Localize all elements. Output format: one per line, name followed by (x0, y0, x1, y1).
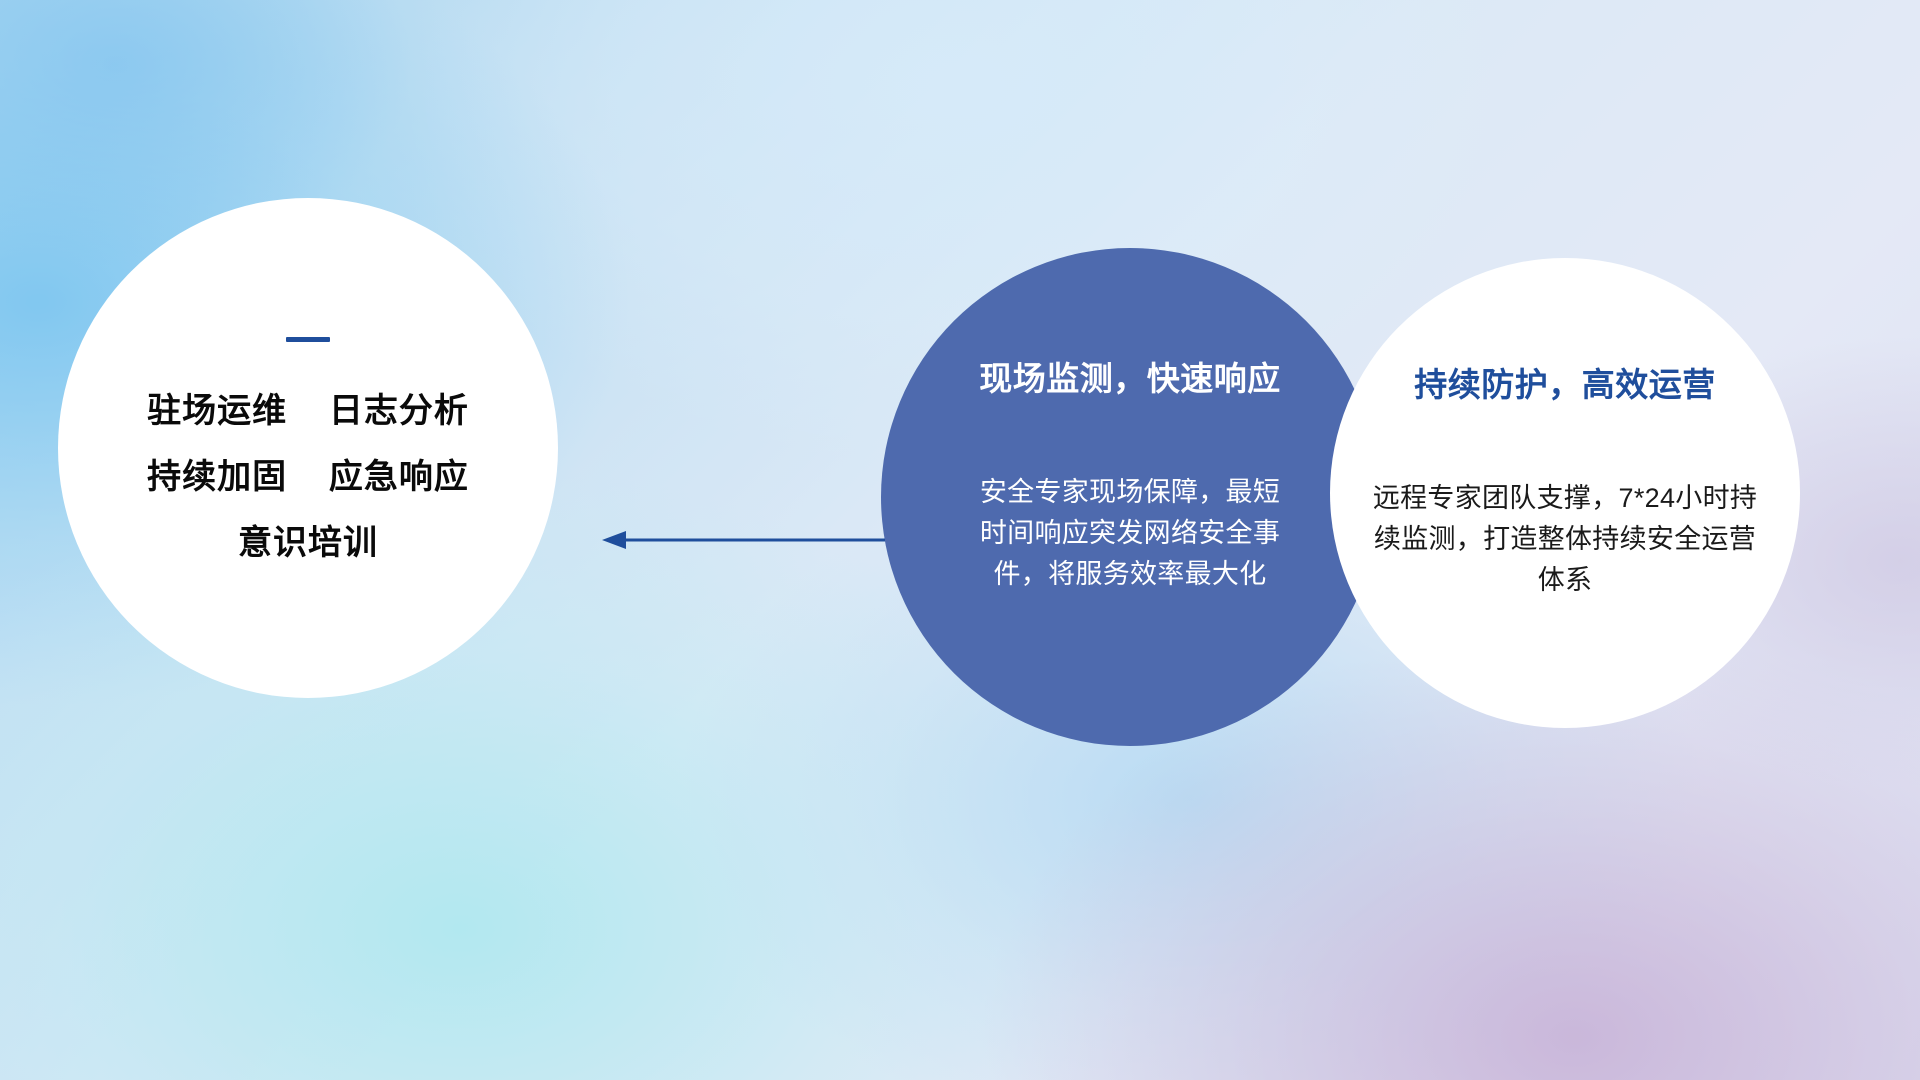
connector-arrow-left (600, 520, 885, 560)
middle-circle-content: 现场监测，快速响应 安全专家现场保障，最短时间响应突发网络安全事件，将服务效率最… (881, 248, 1379, 746)
middle-circle-title: 现场监测，快速响应 (979, 352, 1281, 400)
slide-canvas: 驻场运维 日志分析 持续加固 应急响应 意识培训 现场监测，快速响应 安全专家现… (0, 0, 1920, 1080)
left-divider-dash (286, 337, 330, 342)
left-text-line-2: 持续加固 应急响应 (147, 460, 469, 494)
left-text-line-1: 驻场运维 日志分析 (147, 394, 469, 428)
right-circle-body: 远程专家团队支撑，7*24小时持续监测，打造整体持续安全运营体系 (1365, 478, 1765, 601)
middle-circle-body: 安全专家现场保障，最短时间响应突发网络安全事件，将服务效率最大化 (970, 472, 1290, 595)
left-circle-content: 驻场运维 日志分析 持续加固 应急响应 意识培训 (58, 198, 558, 698)
left-text-line-3: 意识培训 (238, 526, 378, 560)
right-circle-content: 持续防护，高效运营 远程专家团队支撑，7*24小时持续监测，打造整体持续安全运营… (1330, 258, 1800, 728)
right-circle-title: 持续防护，高效运营 (1414, 358, 1716, 406)
